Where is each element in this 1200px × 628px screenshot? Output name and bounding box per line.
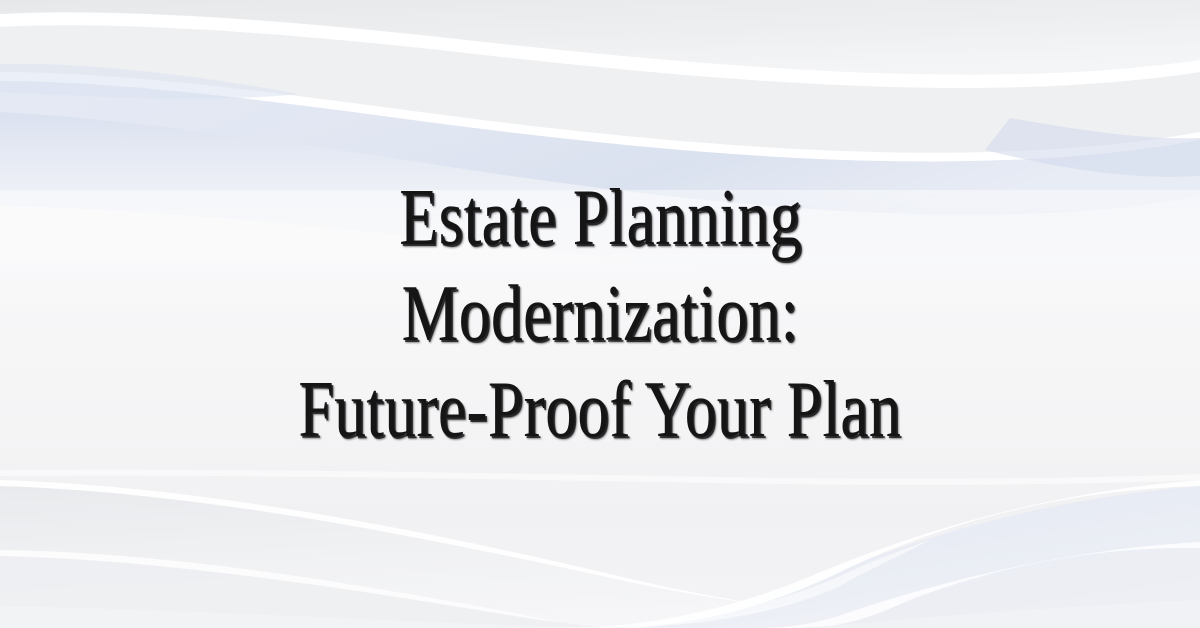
slide-canvas: Estate Planning Modernization: Future-Pr…	[0, 0, 1200, 628]
page-title: Estate Planning Modernization: Future-Pr…	[0, 0, 1200, 628]
title-line-3: Future-Proof Your Plan	[299, 362, 902, 458]
title-line-1: Estate Planning	[399, 170, 801, 266]
title-line-2: Modernization:	[402, 266, 799, 362]
